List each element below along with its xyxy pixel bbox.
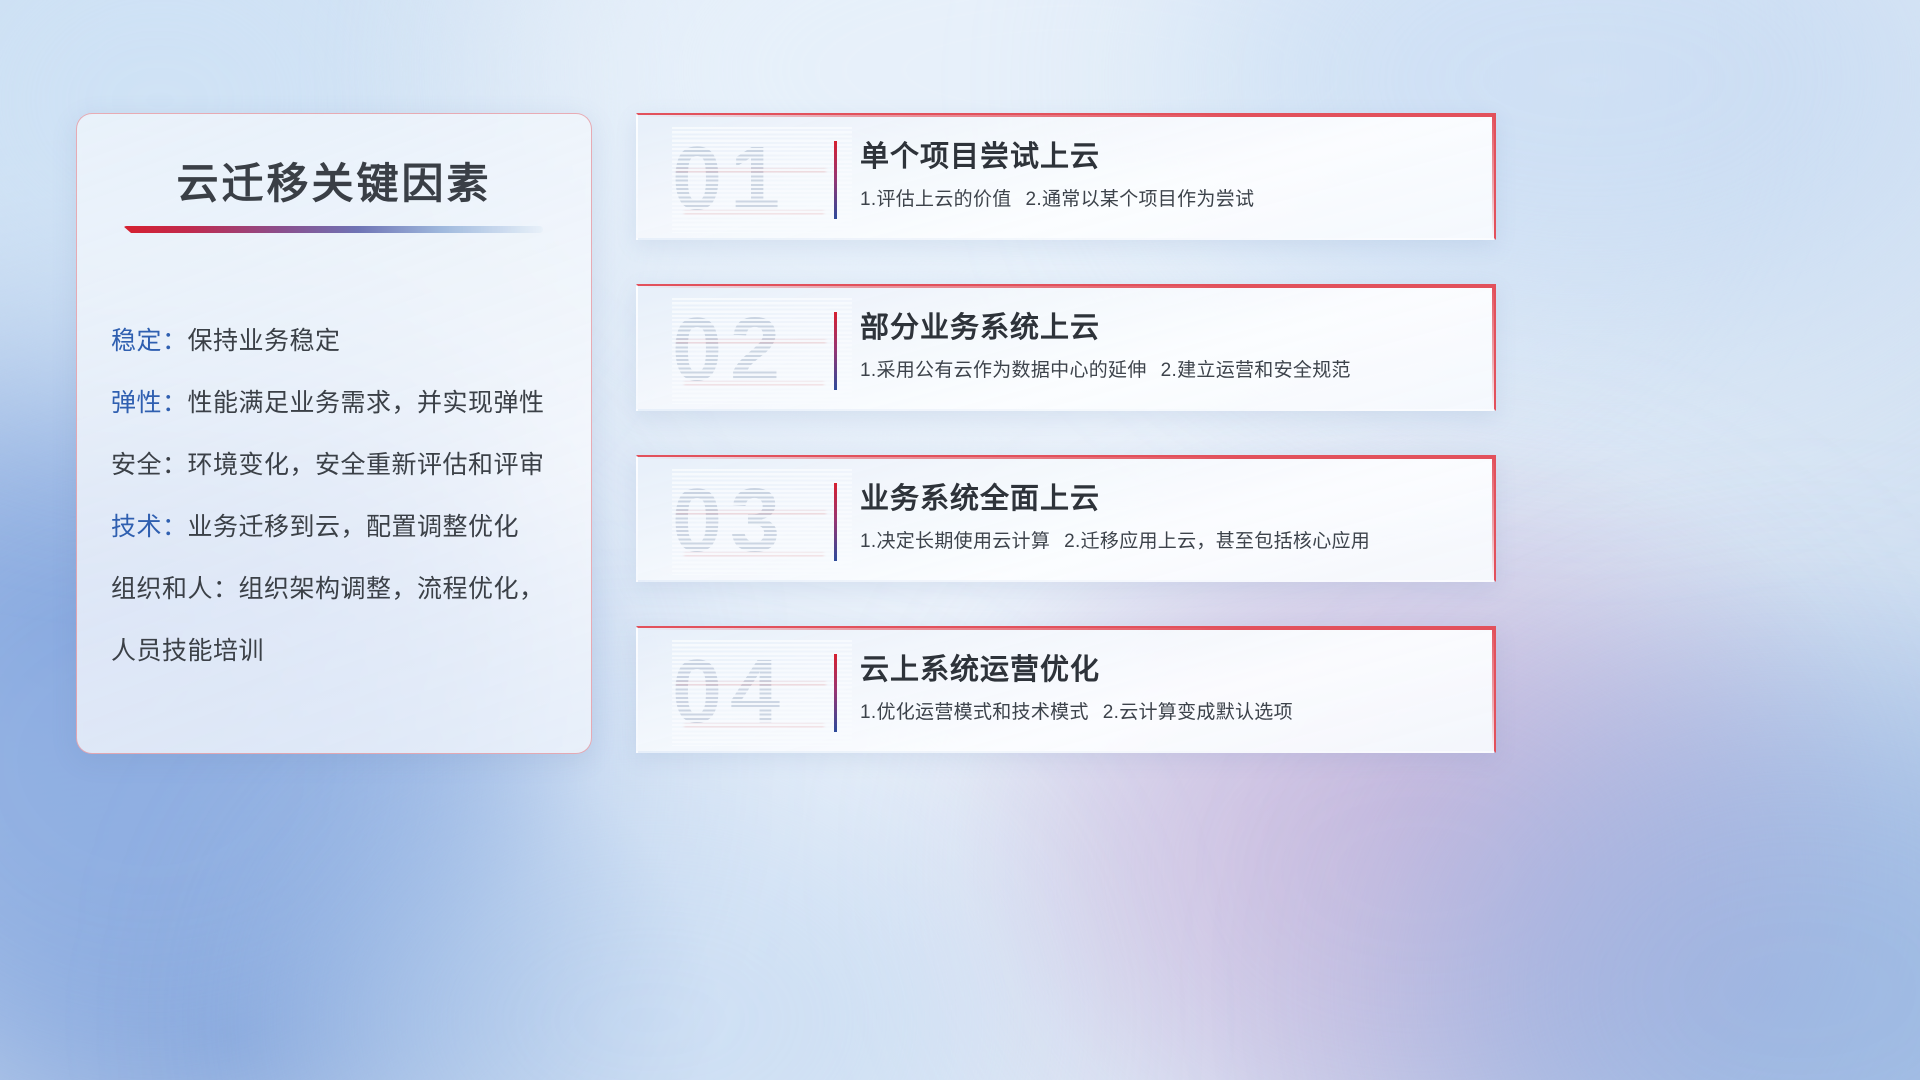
factor-value: 人员技能培训 xyxy=(111,637,264,665)
factor-key: 组织和人： xyxy=(111,575,239,603)
stage-card-04[interactable]: 04 云上系统运营优化 1.优化运营模式和技术模式2.云计算变成默认选项 xyxy=(636,626,1496,753)
factor-value: 性能满足业务需求，并实现弹性 xyxy=(188,389,545,417)
stage-points: 1.决定长期使用云计算2.迁移应用上云，甚至包括核心应用 xyxy=(860,529,1476,555)
stage-point-2: 2.迁移应用上云，甚至包括核心应用 xyxy=(1064,531,1370,552)
stage-point-1: 1.优化运营模式和技术模式 xyxy=(860,702,1089,723)
stage-title: 单个项目尝试上云 xyxy=(860,137,1476,177)
factor-key: 弹性： xyxy=(111,389,188,417)
factor-value: 环境变化，安全重新评估和评审 xyxy=(188,451,545,479)
stage-point-1: 1.采用公有云作为数据中心的延伸 xyxy=(860,360,1147,381)
stage-point-1: 1.评估上云的价值 xyxy=(860,189,1012,210)
factor-item: 弹性：性能满足业务需求，并实现弹性 xyxy=(111,372,571,434)
stage-accent-bar xyxy=(834,141,837,219)
stage-number-watermark: 04 xyxy=(672,638,852,746)
factor-item-continuation: 人员技能培训 xyxy=(111,620,571,682)
stage-point-1: 1.决定长期使用云计算 xyxy=(860,531,1050,552)
stage-title: 云上系统运营优化 xyxy=(860,650,1476,690)
stage-number-watermark: 02 xyxy=(672,296,852,404)
stage-card-03[interactable]: 03 业务系统全面上云 1.决定长期使用云计算2.迁移应用上云，甚至包括核心应用 xyxy=(636,455,1496,582)
factor-value: 业务迁移到云，配置调整优化 xyxy=(188,513,520,541)
stage-number: 01 xyxy=(672,125,852,233)
stage-number: 04 xyxy=(672,638,852,746)
stage-accent-bar xyxy=(834,654,837,732)
factor-key: 安全： xyxy=(111,451,188,479)
factor-item: 稳定：保持业务稳定 xyxy=(111,310,571,372)
stage-points: 1.优化运营模式和技术模式2.云计算变成默认选项 xyxy=(860,700,1476,726)
stage-number: 02 xyxy=(672,296,852,404)
factor-item: 技术：业务迁移到云，配置调整优化 xyxy=(111,496,571,558)
factor-value: 保持业务稳定 xyxy=(188,327,341,355)
stage-point-2: 2.建立运营和安全规范 xyxy=(1161,360,1351,381)
stage-card-list: 01 单个项目尝试上云 1.评估上云的价值2.通常以某个项目作为尝试 02 xyxy=(636,113,1496,797)
factor-key: 技术： xyxy=(111,513,188,541)
stage-number-watermark: 03 xyxy=(672,467,852,575)
factor-key: 稳定： xyxy=(111,327,188,355)
title-underline-rule xyxy=(123,226,543,233)
stage-point-2: 2.云计算变成默认选项 xyxy=(1103,702,1293,723)
stage-card-02[interactable]: 02 部分业务系统上云 1.采用公有云作为数据中心的延伸2.建立运营和安全规范 xyxy=(636,284,1496,411)
stage-title: 部分业务系统上云 xyxy=(860,308,1476,348)
stage-number-watermark: 01 xyxy=(672,125,852,233)
factor-list: 稳定：保持业务稳定 弹性：性能满足业务需求，并实现弹性 安全：环境变化，安全重新… xyxy=(111,310,571,682)
stage-accent-bar xyxy=(834,312,837,390)
panel-title: 云迁移关键因素 xyxy=(77,150,591,211)
factor-item: 组织和人：组织架构调整，流程优化， xyxy=(111,558,571,620)
stage-number: 03 xyxy=(672,467,852,575)
slide-canvas: 云迁移关键因素 稳定：保持业务稳定 弹性：性能满足业务需求，并实现弹性 安全：环… xyxy=(0,0,1920,1080)
factor-value: 组织架构调整，流程优化， xyxy=(239,575,545,603)
stage-point-2: 2.通常以某个项目作为尝试 xyxy=(1026,189,1255,210)
factor-item: 安全：环境变化，安全重新评估和评审 xyxy=(111,434,571,496)
stage-card-01[interactable]: 01 单个项目尝试上云 1.评估上云的价值2.通常以某个项目作为尝试 xyxy=(636,113,1496,240)
stage-title: 业务系统全面上云 xyxy=(860,479,1476,519)
stage-points: 1.采用公有云作为数据中心的延伸2.建立运营和安全规范 xyxy=(860,358,1476,384)
stage-accent-bar xyxy=(834,483,837,561)
stage-points: 1.评估上云的价值2.通常以某个项目作为尝试 xyxy=(860,187,1476,213)
key-factors-panel: 云迁移关键因素 稳定：保持业务稳定 弹性：性能满足业务需求，并实现弹性 安全：环… xyxy=(76,113,592,754)
